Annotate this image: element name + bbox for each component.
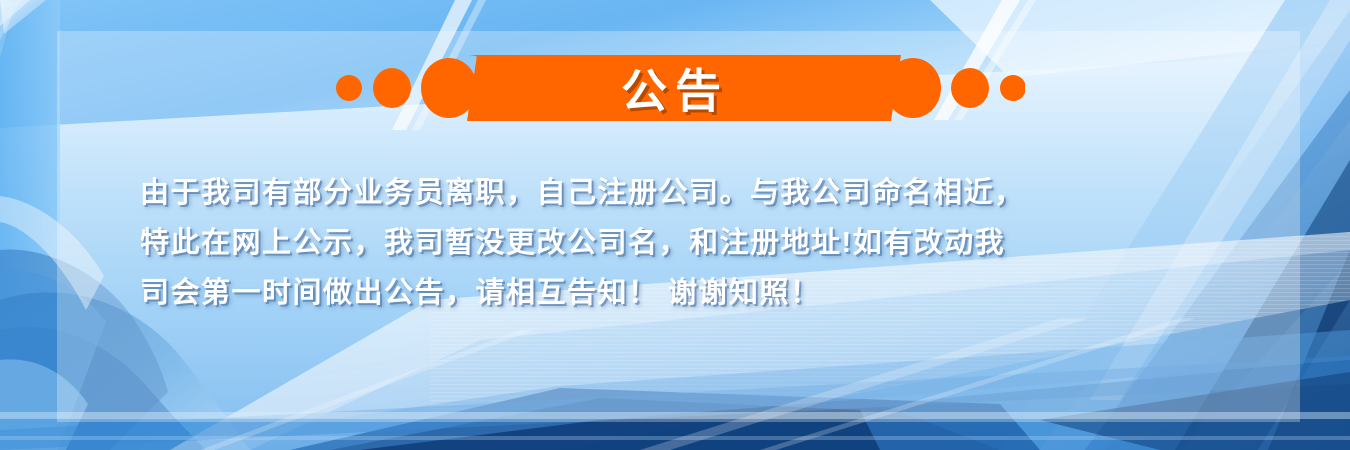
- header-row: 公告: [0, 52, 1350, 124]
- announcement-body: 由于我司有部分业务员离职，自己注册公司。与我公司命名相近， 特此在网上公示，我司…: [140, 168, 1225, 318]
- announcement-line: 特此在网上公示，我司暂没更改公司名，和注册地址!如有改动我: [140, 218, 1225, 268]
- announcement-banner: 公告 由于我司有部分业务员离职，自己注册公司。与我公司命名相近， 特此在网上公示…: [0, 0, 1350, 450]
- announcement-line: 由于我司有部分业务员离职，自己注册公司。与我公司命名相近，: [140, 168, 1225, 218]
- announcement-line: 司会第一时间做出公告，请相互告知！ 谢谢知照！: [140, 268, 1225, 318]
- page-title: 公告: [0, 52, 1350, 124]
